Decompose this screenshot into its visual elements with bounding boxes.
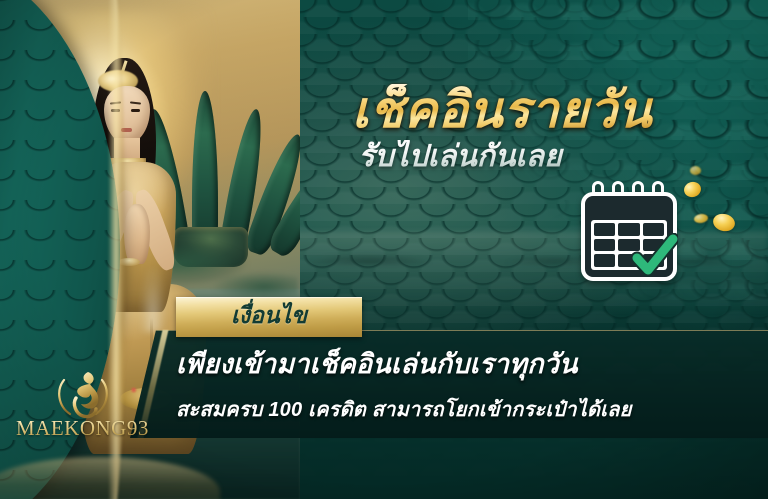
- promotion-banner: เช็คอินรายวัน รับไปเล่นกันเลย เงื่อนไข เ…: [0, 0, 768, 499]
- headline-block: เช็คอินรายวัน รับไปเล่นกันเลย: [306, 84, 698, 173]
- praying-hands: [124, 204, 150, 264]
- gold-coin-icon: [690, 166, 701, 175]
- page-title: เช็คอินรายวัน: [306, 84, 698, 136]
- conditions-badge: เงื่อนไข: [176, 297, 362, 337]
- condition-line-2: สะสมครบ 100 เครดิต สามารถโยกเข้ากระเป๋าไ…: [176, 393, 696, 425]
- subtitle: รับไปเล่นกันเลย: [306, 140, 698, 173]
- incense-smoke: [140, 268, 166, 332]
- brand-logo: MAEKONG93: [16, 370, 148, 446]
- naga-serpent-emblem-icon: [50, 370, 116, 422]
- status-badge: เงื่อนไข: [231, 298, 307, 336]
- brand-name: MAEKONG93: [16, 416, 148, 441]
- calendar-icon: [581, 181, 677, 281]
- condition-line-1: เพียงเข้ามาเช็คอินเล่นกับเราทุกวัน: [176, 342, 696, 385]
- conditions-text-block: เพียงเข้ามาเช็คอินเล่นกับเราทุกวัน สะสมค…: [176, 342, 696, 425]
- green-check-icon: [632, 233, 678, 277]
